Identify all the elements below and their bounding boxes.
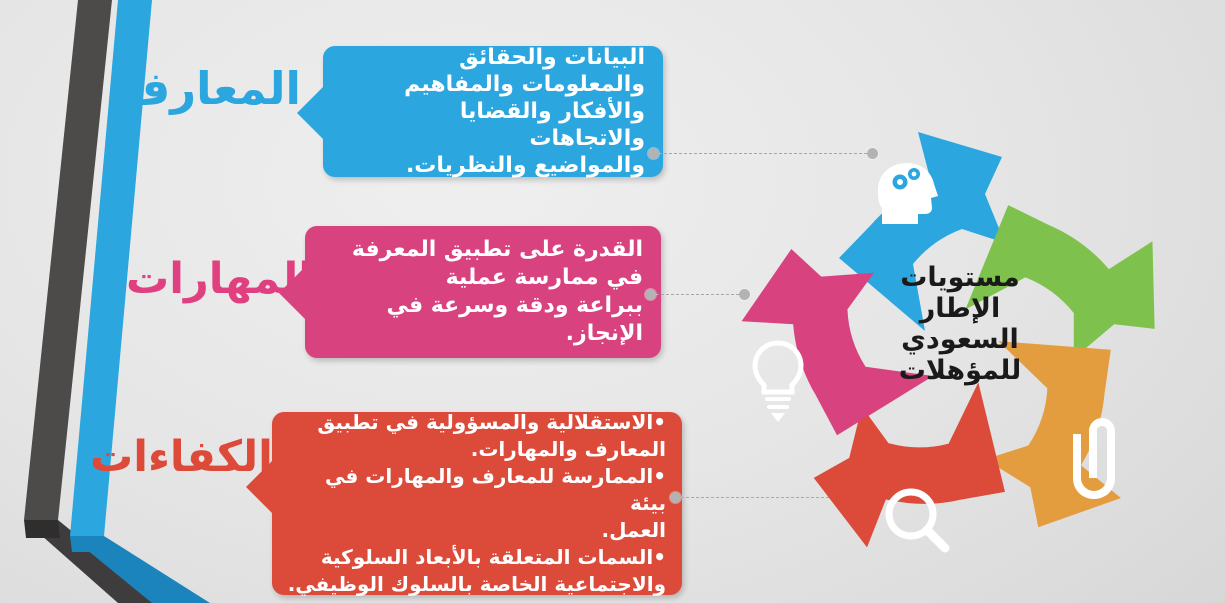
callout-competencies[interactable]: •الاستقلالية والمسؤولية في تطبيق المعارف… [272, 412, 682, 595]
connector-dot [645, 289, 656, 300]
cycle-arrow-left [717, 238, 958, 457]
callout-line: العمل. [286, 517, 666, 544]
gray-bar-fold [24, 520, 160, 603]
callout-tail-knowledge [297, 86, 324, 140]
callout-skills[interactable]: القدرة على تطبيق المعرفة في ممارسة عملية… [305, 226, 661, 358]
blue-bar-edge [70, 536, 106, 552]
callout-line: والمواضيع والنظريات. [337, 152, 645, 179]
gray-bar-edge [24, 520, 60, 538]
category-label-knowledge: المعارف [118, 66, 301, 111]
callout-line: ببراعة ودقة وسرعة في [319, 292, 643, 320]
cycle-arrow-left-shape [717, 238, 958, 457]
connector-dot [670, 492, 681, 503]
callout-line: •السمات المتعلقة بالأبعاد السلوكية [286, 544, 666, 571]
cycle-diagram [700, 98, 1220, 598]
callout-line: والأفكار والقضايا والاتجاهات [337, 98, 645, 152]
callout-line: في ممارسة عملية [319, 264, 643, 292]
callout-line: والمعلومات والمفاهيم [337, 71, 645, 98]
callout-tail-competencies [246, 460, 273, 514]
callout-tail-skills [279, 266, 306, 320]
callout-line: القدرة على تطبيق المعرفة [319, 236, 643, 264]
callout-line: •الاستقلالية والمسؤولية في تطبيق [286, 409, 666, 436]
callout-knowledge[interactable]: البيانات والحقائق والمعلومات والمفاهيم و… [323, 46, 663, 177]
connector-dot [648, 148, 659, 159]
callout-line: المعارف والمهارات. [286, 436, 666, 463]
slide-canvas: المعارف المهارات الكفاءات البيانات والحق… [0, 0, 1225, 603]
callout-line: والاجتماعية الخاصة بالسلوك الوظيفي. [286, 571, 666, 598]
blue-bar-fold [70, 536, 210, 603]
lightbulb-icon [755, 343, 801, 422]
callout-line: الإنجاز. [319, 320, 643, 348]
callout-line: •الممارسة للمعارف والمهارات في بيئة [286, 463, 666, 517]
callout-line: البيانات والحقائق [337, 44, 645, 71]
